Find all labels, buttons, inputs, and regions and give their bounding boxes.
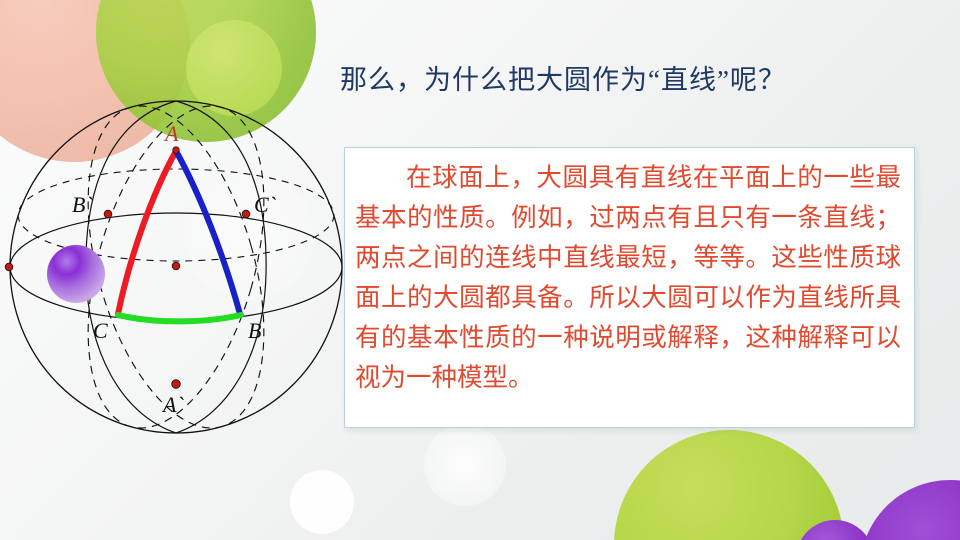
meridian-front-arc-right	[176, 101, 266, 433]
great-arc-CB-green	[118, 315, 241, 321]
point-marker-Cprime	[242, 210, 250, 218]
inner-sphere-ball	[47, 245, 105, 303]
decor-circle-white-small	[290, 470, 354, 534]
body-text-box: 在球面上，大圆具有直线在平面上的一些最基本的性质。例如，过两点有且只有一条直线；…	[344, 147, 915, 428]
decor-circle-purple-large	[860, 480, 960, 540]
decor-circle-purple-small	[796, 520, 874, 540]
decor-circle-green-bottom	[614, 430, 844, 540]
body-paragraph: 在球面上，大圆具有直线在平面上的一些最基本的性质。例如，过两点有且只有一条直线；…	[355, 158, 901, 398]
point-marker-A	[173, 147, 180, 154]
sphere-diagram: A B` C` C B A`	[0, 96, 352, 444]
point-marker-Aprime	[172, 380, 181, 389]
slide-canvas: A B` C` C B A` 那么，为什么把大圆作为“直线”呢？ 在球面上，大圆…	[0, 0, 960, 540]
point-marker-center	[172, 262, 180, 270]
sphere-diagram-svg	[0, 96, 352, 444]
point-marker-Bprime	[104, 210, 112, 218]
great-arc-AB-blue	[176, 151, 240, 314]
page-title: 那么，为什么把大圆作为“直线”呢？	[340, 62, 940, 98]
point-marker-left-edge	[5, 263, 13, 271]
decor-circle-white-lower	[424, 424, 506, 506]
great-arc-AC-red	[118, 151, 176, 314]
